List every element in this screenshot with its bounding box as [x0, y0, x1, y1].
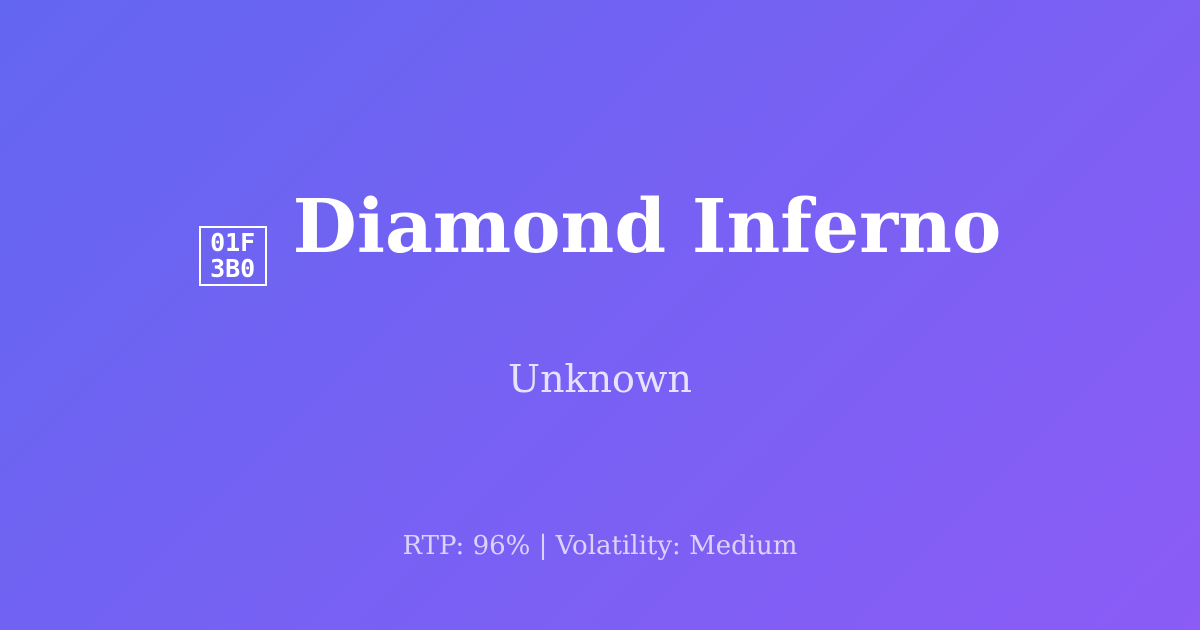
codepoint-row-bottom: 3B0 — [210, 256, 255, 282]
title-row: 01F 3B0 Diamond Inferno — [0, 187, 1200, 287]
hero-block: 01F 3B0 Diamond Inferno Unknown — [0, 187, 1200, 401]
game-title: Diamond Inferno — [293, 187, 1002, 267]
game-og-card: 01F 3B0 Diamond Inferno Unknown RTP: 96%… — [0, 0, 1200, 630]
provider-name: Unknown — [508, 357, 692, 401]
slot-machine-icon: 01F 3B0 — [199, 226, 267, 286]
codepoint-row-top: 01F — [210, 230, 255, 256]
game-stats-line: RTP: 96% | Volatility: Medium — [0, 530, 1200, 562]
